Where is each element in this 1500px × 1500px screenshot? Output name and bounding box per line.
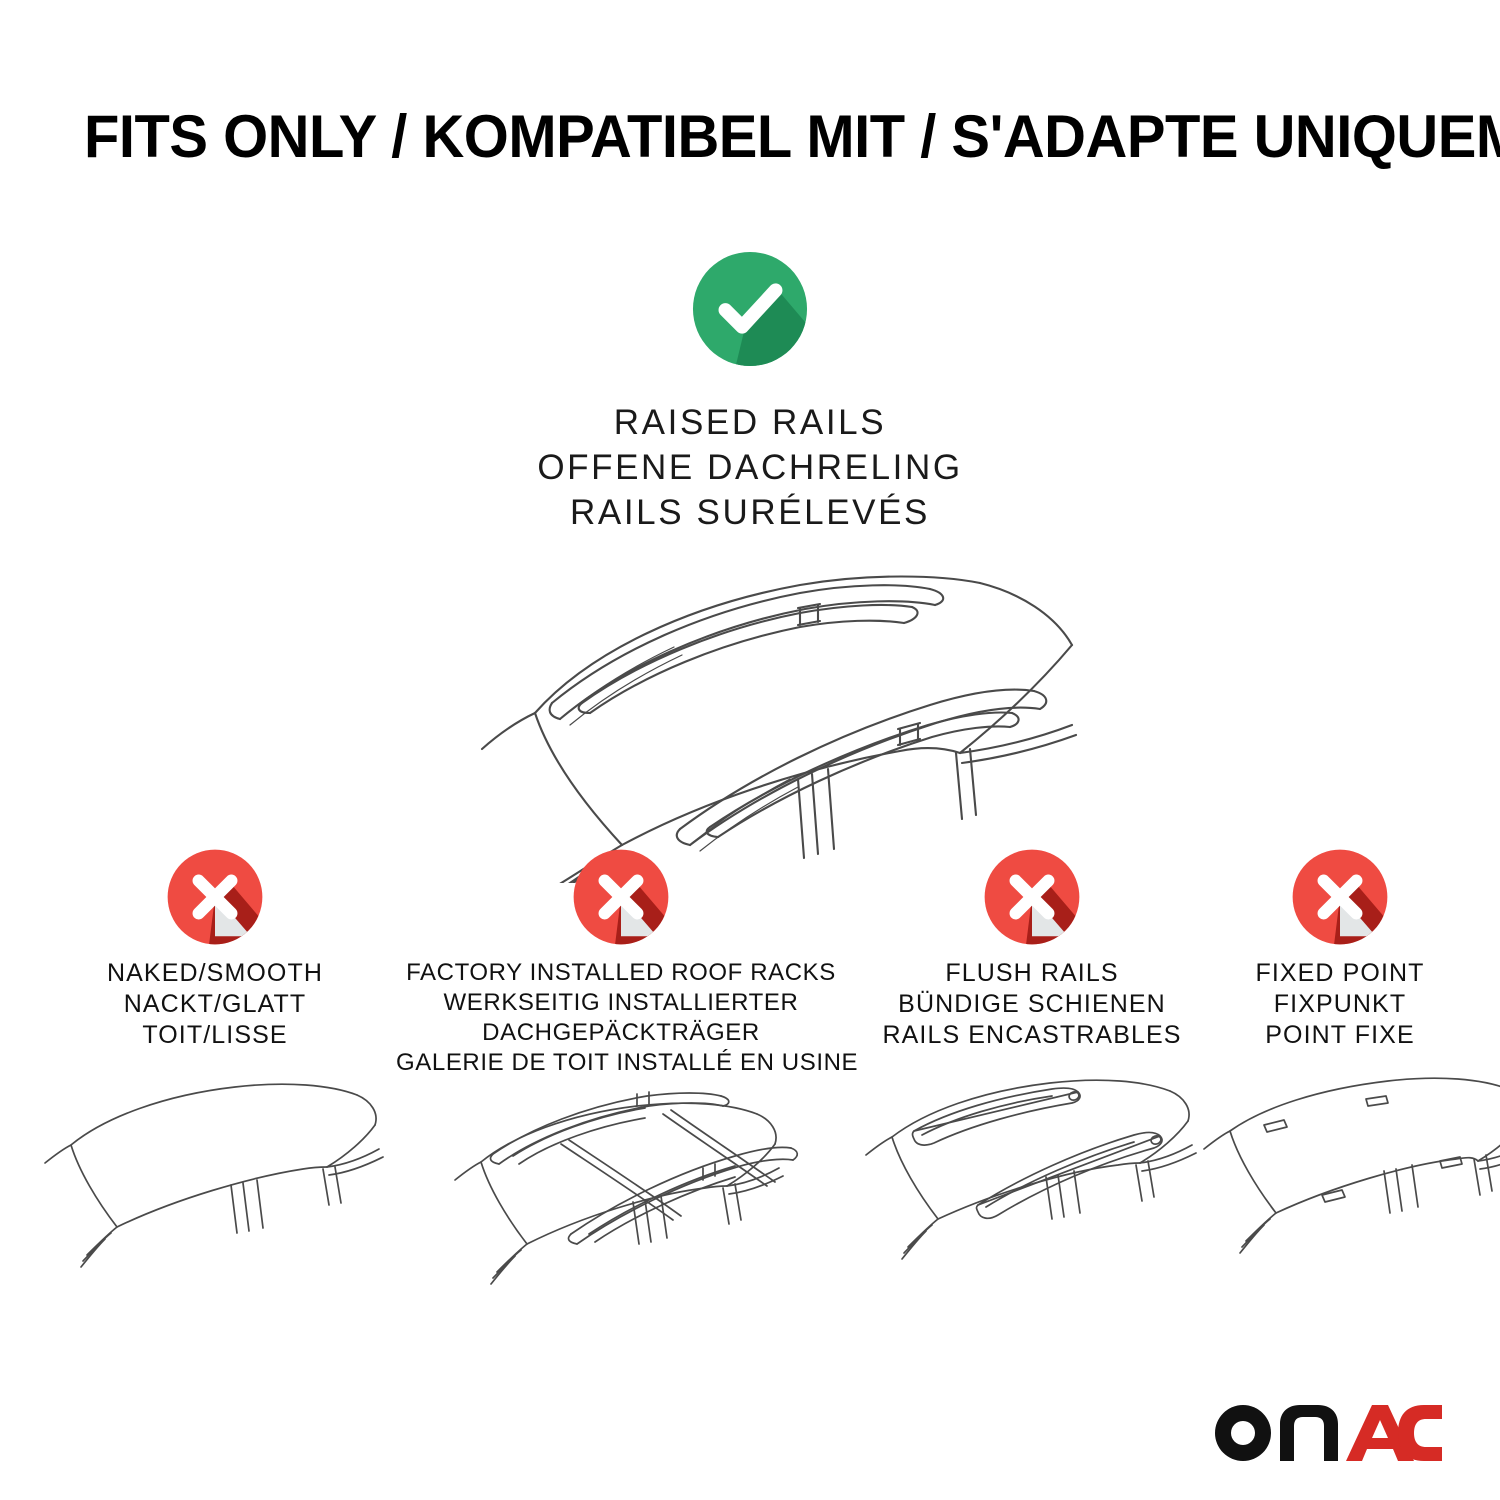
incompatible-label-group: NAKED/SMOOTH NACKT/GLATT TOIT/LISSE	[20, 958, 410, 1051]
incompatible-label-de: FIXPUNKT	[1190, 989, 1490, 1020]
incompatible-label-de-2: DACHGEPÄCKTRÄGER	[396, 1018, 846, 1048]
incompatible-label-fr: GALERIE DE TOIT INSTALLÉ EN USINE	[396, 1048, 846, 1078]
incompatible-label-group: FIXED POINT FIXPUNKT POINT FIXE	[1190, 958, 1490, 1051]
page-title: FITS ONLY / KOMPATIBEL MIT / S'ADAPTE UN…	[84, 104, 1377, 170]
logo-letter-c	[1398, 1405, 1442, 1461]
check-circle-icon	[691, 250, 809, 368]
incompatible-row: NAKED/SMOOTH NACKT/GLATT TOIT/LISSE	[0, 848, 1500, 1318]
incompatible-label-fr: POINT FIXE	[1190, 1020, 1490, 1051]
incompatible-item-flush-rails: FLUSH RAILS BÜNDIGE SCHIENEN RAILS ENCAS…	[852, 848, 1212, 1280]
incompatible-label-de-1: WERKSEITIG INSTALLIERTER	[396, 988, 846, 1018]
cross-circle-icon	[1291, 848, 1389, 946]
incompatible-label-en: FIXED POINT	[1190, 958, 1490, 989]
incompatible-label-de: BÜNDIGE SCHIENEN	[852, 989, 1212, 1020]
car-roof-factory-racks-illustration	[441, 1084, 801, 1299]
incompatible-label-en: FLUSH RAILS	[852, 958, 1212, 989]
incompatible-label-en: FACTORY INSTALLED ROOF RACKS	[396, 958, 846, 988]
car-roof-flush-rails-illustration	[852, 1065, 1212, 1280]
incompatible-label-group: FACTORY INSTALLED ROOF RACKS WERKSEITIG …	[396, 958, 846, 1078]
incompatible-label-en: NAKED/SMOOTH	[20, 958, 410, 989]
omac-logo	[1212, 1402, 1442, 1464]
incompatible-label-fr: RAILS ENCASTRABLES	[852, 1020, 1212, 1051]
logo-letter-m	[1280, 1405, 1338, 1461]
cross-circle-icon	[166, 848, 264, 946]
cross-circle-icon	[983, 848, 1081, 946]
car-roof-fixed-point-illustration	[1190, 1065, 1500, 1280]
car-roof-naked-smooth-illustration	[35, 1067, 395, 1282]
compatible-label-en: RAISED RAILS	[0, 400, 1500, 445]
incompatible-label-fr: TOIT/LISSE	[20, 1020, 410, 1051]
cross-circle-icon	[572, 848, 670, 946]
compatible-section: RAISED RAILS OFFENE DACHRELING RAILS SUR…	[0, 250, 1500, 883]
logo-letter-o	[1215, 1405, 1271, 1461]
incompatible-item-factory-roof-racks: FACTORY INSTALLED ROOF RACKS WERKSEITIG …	[396, 848, 846, 1299]
car-roof-raised-rails-illustration	[400, 553, 1100, 883]
incompatible-item-naked-smooth: NAKED/SMOOTH NACKT/GLATT TOIT/LISSE	[20, 848, 410, 1282]
incompatible-label-group: FLUSH RAILS BÜNDIGE SCHIENEN RAILS ENCAS…	[852, 958, 1212, 1051]
compatible-label-de: OFFENE DACHRELING	[0, 445, 1500, 490]
compatible-label-fr: RAILS SURÉLEVÉS	[0, 490, 1500, 535]
compatible-label-group: RAISED RAILS OFFENE DACHRELING RAILS SUR…	[0, 400, 1500, 535]
incompatible-label-de: NACKT/GLATT	[20, 989, 410, 1020]
incompatible-item-fixed-point: FIXED POINT FIXPUNKT POINT FIXE	[1190, 848, 1490, 1280]
